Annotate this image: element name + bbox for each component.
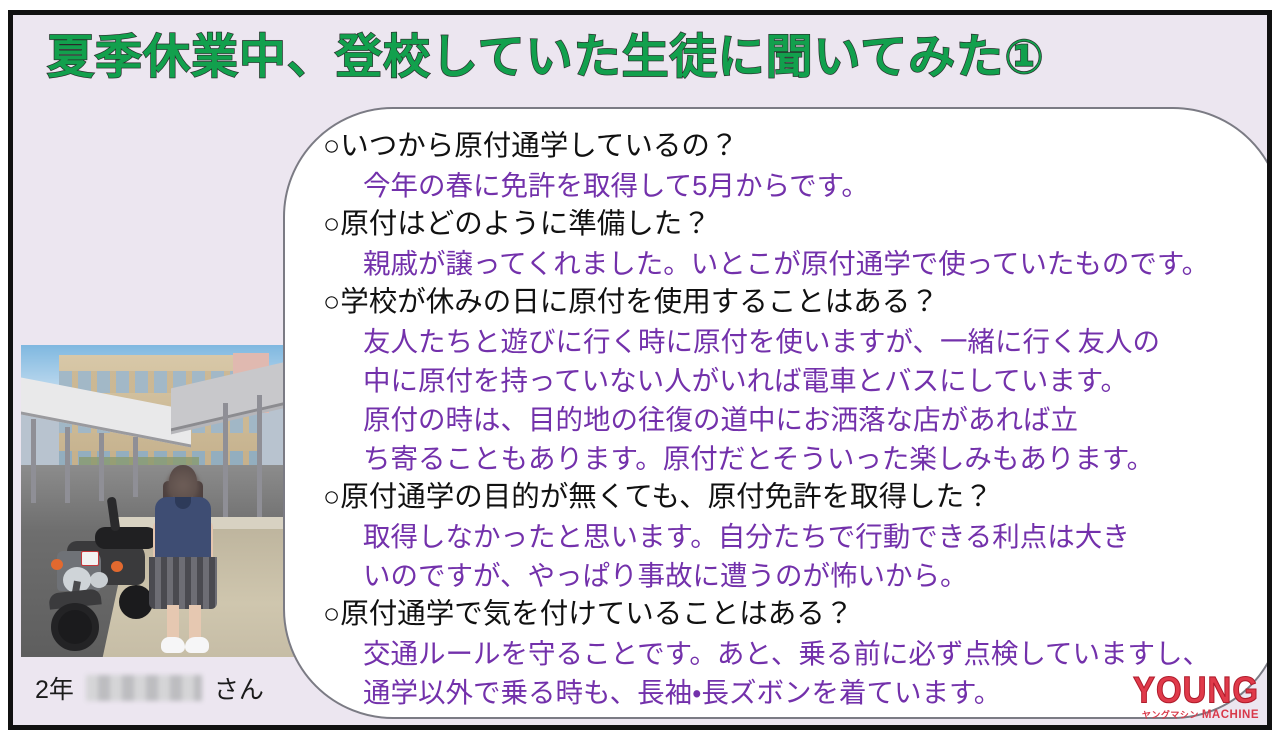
qa-answer-line: ち寄ることもあります。原付だとそういった楽しみもあります。 [323, 439, 1272, 478]
qa-question: ○学校が休みの日に原付を使用することはある？ [323, 283, 1272, 322]
logo-wordmark: YOUNG [1109, 671, 1259, 708]
qa-question: ○原付はどのように準備した？ [323, 205, 1272, 244]
logo-kana: ヤングマシン [1142, 710, 1199, 720]
photo-scooter-plate [81, 551, 99, 566]
photo-scooter-blinker [51, 559, 63, 570]
qa-question: ○原付通学で気を付けていることはある？ [323, 595, 1272, 634]
qa-answer-line: いのですが、やっぱり事故に遭うのが怖いから。 [323, 556, 1272, 595]
qa-item: ○学校が休みの日に原付を使用することはある？ 友人たちと遊びに行く時に原付を使い… [323, 283, 1272, 478]
caption-honorific: さん [214, 670, 264, 706]
qa-question: ○原付通学の目的が無くても、原付免許を取得した？ [323, 478, 1272, 517]
qa-answer-line: 中に原付を持っていない人がいれば電車とバスにしています。 [323, 361, 1272, 400]
qa-answer-line: 原付の時は、目的地の往復の道中にお洒落な店があれば立 [323, 400, 1272, 439]
page-title: 夏季休業中、登校していた生徒に聞いてみた① [47, 31, 1045, 83]
qa-item: ○いつから原付通学しているの？ 今年の春に免許を取得して5月からです。 [323, 127, 1272, 205]
photo-student-shoe [185, 637, 209, 653]
photo-pillar [65, 427, 70, 503]
photo-pillar [99, 433, 104, 501]
logo-machine-text: MACHINE [1202, 709, 1259, 721]
photo-pillar [31, 419, 36, 503]
photo-pillar [257, 395, 262, 535]
qa-item: ○原付通学の目的が無くても、原付免許を取得した？ 取得しなかったと思います。自分… [323, 478, 1272, 595]
photo-scooter-seat [95, 527, 157, 549]
qa-answer-line: 今年の春に免許を取得して5月からです。 [323, 166, 1272, 205]
qa-answer-line: 取得しなかったと思います。自分たちで行動できる利点は大き [323, 517, 1272, 556]
photo-student-skirt [149, 557, 217, 609]
redacted-name [86, 675, 202, 701]
slide-frame: 夏季休業中、登校していた生徒に聞いてみた① [8, 10, 1272, 730]
caption-grade: 2年 [35, 670, 74, 706]
photo-scene [21, 345, 295, 657]
logo-subtitle: ヤングマシンMACHINE [1109, 710, 1259, 722]
qa-panel: ○いつから原付通学しているの？ 今年の春に免許を取得して5月からです。 ○原付は… [283, 107, 1272, 719]
young-machine-logo: YOUNG ヤングマシンMACHINE [1109, 675, 1259, 722]
photo-scooter-front-wheel [51, 603, 99, 651]
photo-student-shoe [161, 637, 185, 653]
qa-answer-line: 友人たちと遊びに行く時に原付を使いますが、一緒に行く友人の [323, 322, 1272, 361]
student-photo [21, 345, 295, 657]
qa-answer-line: 交通ルールを守ることです。あと、乗る前に必ず点検していますし、 [323, 634, 1272, 673]
qa-answer-line: 親戚が譲ってくれました。いとこが原付通学で使っていたものです。 [323, 244, 1272, 283]
qa-list: ○いつから原付通学しているの？ 今年の春に免許を取得して5月からです。 ○原付は… [323, 127, 1272, 712]
photo-pillar [223, 403, 228, 523]
photo-scooter-rear-wheel [119, 585, 153, 619]
photo-caption: 2年 さん [21, 657, 295, 719]
qa-question: ○いつから原付通学しているの？ [323, 127, 1272, 166]
qa-item: ○原付はどのように準備した？ 親戚が譲ってくれました。いとこが原付通学で使ってい… [323, 205, 1272, 283]
photo-pillar [133, 437, 138, 497]
